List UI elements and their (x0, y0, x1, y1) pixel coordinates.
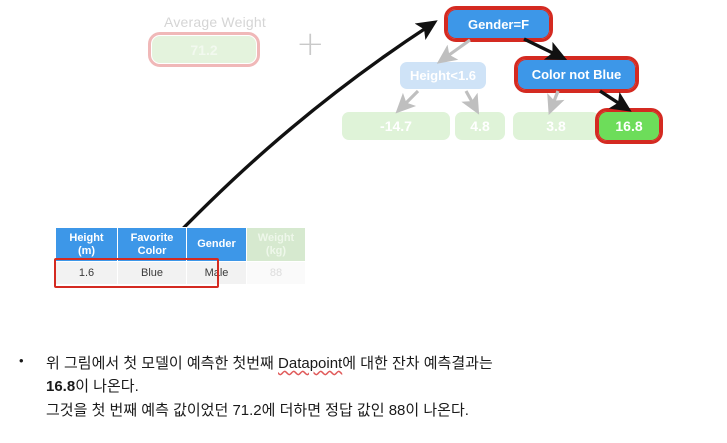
table-header-row: Height (m) Favorite Color Gender Weight … (56, 228, 306, 262)
explanation-line-1-b: 에 대한 잔차 예측결과는 (342, 355, 493, 372)
explanation-notes: • 위 그림에서 첫 모델이 예측한 첫번째 Datapoint에 대한 잔차 … (14, 352, 714, 422)
table-row-highlight (54, 258, 219, 288)
explanation-datapoint-term: Datapoint (278, 355, 342, 372)
tree-leaf-3-label: 3.8 (546, 118, 565, 134)
table-header-height: Height (m) (56, 228, 118, 262)
explanation-line-1-a: 위 그림에서 첫 모델이 예측한 첫번째 (46, 355, 278, 372)
tree-node-height[interactable]: Height<1.6 (400, 62, 486, 89)
table-header-weight-line2: (kg) (266, 245, 286, 257)
plus-operator-icon: + (296, 30, 324, 58)
table-header-gender: Gender (187, 228, 247, 262)
average-weight-value: 71.2 (190, 42, 217, 58)
average-weight-label: Average Weight (150, 14, 280, 30)
tree-leaf-2-label: 4.8 (470, 118, 489, 134)
average-weight-value-box: 71.2 (152, 36, 256, 63)
tree-node-height-label: Height<1.6 (410, 68, 476, 83)
cell-weight: 88 (247, 262, 306, 285)
tree-node-gender-label: Gender=F (468, 17, 529, 32)
table-header-weight-line1: Weight (258, 232, 294, 244)
table-header-color-line1: Favorite (131, 232, 174, 244)
table-header-weight: Weight (kg) (247, 228, 306, 262)
tree-node-gender[interactable]: Gender=F (448, 10, 549, 38)
explanation-line-3: 그것을 첫 번째 예측 값이었던 71.2에 더하면 정답 값인 88이 나온다… (46, 399, 714, 422)
arrow-gender-to-color (524, 39, 561, 57)
table-header-color: Favorite Color (118, 228, 187, 262)
explanation-body: 위 그림에서 첫 모델이 예측한 첫번째 Datapoint에 대한 잔차 예측… (46, 352, 714, 422)
tree-node-color[interactable]: Color not Blue (518, 60, 635, 89)
arrow-color-to-leaf3 (551, 91, 558, 109)
arrow-color-to-leaf4 (600, 91, 626, 108)
explanation-line-2-rest: 이 나온다. (75, 378, 139, 395)
tree-leaf-4-selected[interactable]: 16.8 (599, 112, 659, 140)
tree-leaf-2[interactable]: 4.8 (455, 112, 505, 140)
slide-canvas: Average Weight 71.2 + Gender=F Height<1.… (0, 0, 727, 443)
arrow-height-to-leaf2 (466, 91, 476, 109)
table-header-color-line2: Color (138, 245, 167, 257)
bullet-icon: • (19, 357, 27, 365)
table-header-gender-line1: Gender (197, 238, 236, 250)
arrow-height-to-leaf1 (400, 91, 418, 109)
explanation-line-1: 위 그림에서 첫 모델이 예측한 첫번째 Datapoint에 대한 잔차 예측… (46, 352, 714, 375)
table-header-height-line1: Height (69, 232, 103, 244)
tree-leaf-1[interactable]: -14.7 (342, 112, 450, 140)
table-header-height-line2: (m) (78, 245, 95, 257)
explanation-line-2: 16.8이 나온다. (46, 375, 714, 398)
tree-leaf-3[interactable]: 3.8 (513, 112, 599, 140)
arrow-gender-to-height (442, 40, 470, 60)
tree-leaf-1-label: -14.7 (380, 118, 412, 134)
tree-leaf-4-label: 16.8 (615, 118, 642, 134)
explanation-residual-value: 16.8 (46, 378, 75, 395)
tree-node-color-label: Color not Blue (532, 67, 622, 82)
